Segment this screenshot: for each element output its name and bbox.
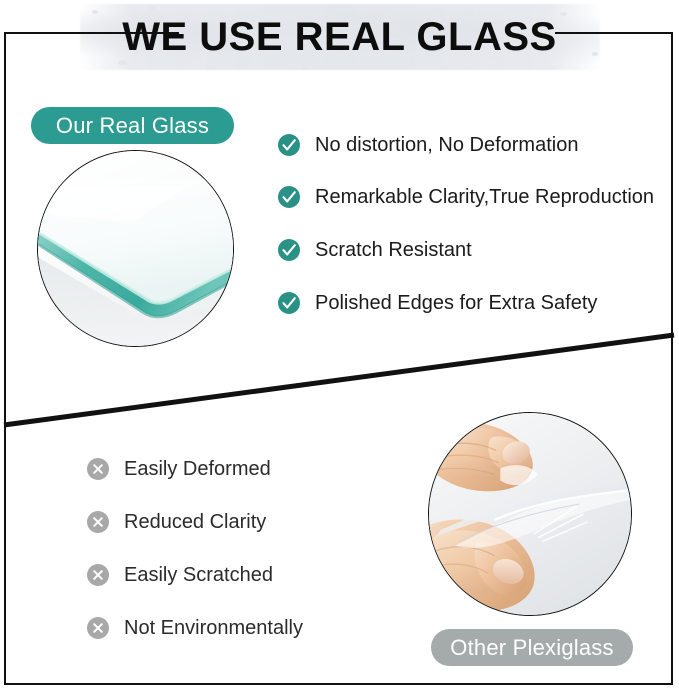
real-glass-photo	[37, 150, 234, 347]
feature-label: Easily Deformed	[124, 457, 271, 481]
feature-label: Polished Edges for Extra Safety	[315, 291, 597, 315]
feature-row: Not Environmentally	[86, 616, 303, 640]
feature-label: Scratch Resistant	[315, 238, 472, 262]
feature-row: Reduced Clarity	[86, 510, 266, 534]
feature-label: No distortion, No Deformation	[315, 133, 578, 157]
check-circle-icon	[277, 185, 301, 209]
badge-our-real-glass: Our Real Glass	[31, 107, 234, 144]
feature-row: No distortion, No Deformation	[277, 133, 578, 157]
x-circle-icon	[86, 510, 110, 534]
plexiglass-photo-graphic	[429, 413, 631, 615]
feature-row: Easily Deformed	[86, 457, 271, 481]
check-circle-icon	[277, 238, 301, 262]
check-circle-icon	[277, 133, 301, 157]
check-circle-icon	[277, 291, 301, 315]
x-circle-icon	[86, 457, 110, 481]
feature-row: Scratch Resistant	[277, 238, 472, 262]
feature-row: Remarkable Clarity,True Reproduction	[277, 185, 654, 209]
brush-speck	[300, 66, 308, 70]
x-circle-icon	[86, 616, 110, 640]
real-glass-photo-graphic	[38, 151, 233, 346]
feature-label: Reduced Clarity	[124, 510, 266, 534]
feature-row: Polished Edges for Extra Safety	[277, 291, 597, 315]
frame-left-edge	[4, 32, 6, 685]
brush-speck	[150, 6, 155, 10]
badge-other-plexiglass: Other Plexiglass	[431, 629, 633, 666]
brush-speck	[118, 60, 127, 65]
frame-bottom-edge	[4, 683, 673, 685]
frame-right-edge	[671, 32, 673, 685]
plexiglass-photo	[428, 412, 632, 616]
page-title: WE USE REAL GLASS	[0, 14, 679, 60]
feature-label: Remarkable Clarity,True Reproduction	[315, 185, 654, 209]
feature-label: Easily Scratched	[124, 563, 273, 587]
feature-label: Not Environmentally	[124, 616, 303, 640]
feature-row: Easily Scratched	[86, 563, 273, 587]
comparison-infographic: WE USE REAL GLASS Our Real Glass	[0, 0, 679, 691]
x-circle-icon	[86, 563, 110, 587]
